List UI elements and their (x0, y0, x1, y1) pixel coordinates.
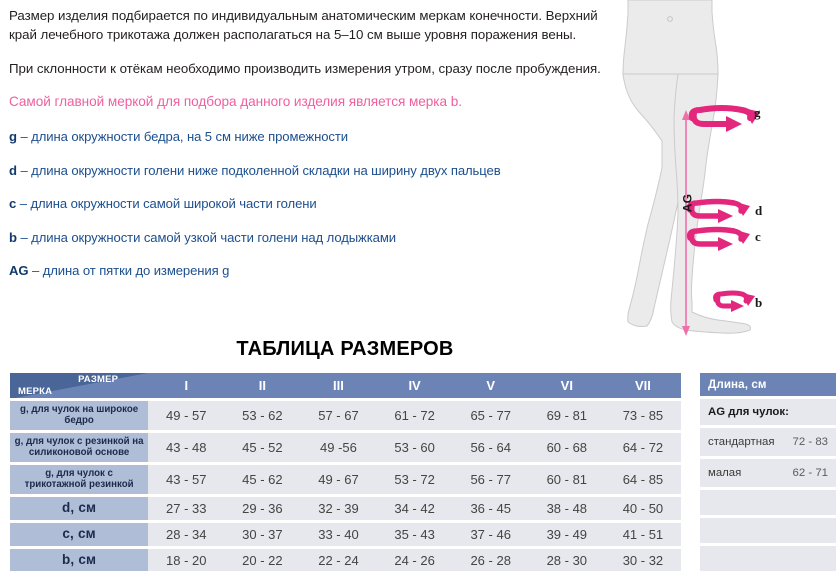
cell-r5-c4: 24 - 26 (377, 547, 453, 571)
definition-item-c: c – длина окружности самой широкой части… (9, 195, 609, 212)
cell-r1-c3: 49 -56 (300, 431, 376, 463)
cell-r0-c6: 69 - 81 (529, 399, 605, 431)
diagram-label-g: g (754, 105, 761, 121)
definition-item-b: b – длина окружности самой узкой части г… (9, 229, 609, 246)
cell-r2-c3: 49 - 67 (300, 463, 376, 495)
definition-item-ag: AG – длина от пятки до измерения g (9, 262, 609, 279)
length-table-spacer-2 (700, 518, 836, 546)
cell-r0-c7: 73 - 85 (605, 399, 681, 431)
torso-shape (623, 0, 718, 74)
column-header-6: VI (529, 373, 605, 399)
definition-text-b: длина окружности самой узкой части голен… (31, 230, 396, 245)
body-illustration-svg (600, 0, 836, 345)
cell-r5-c3: 22 - 24 (300, 547, 376, 571)
column-header-2: II (224, 373, 300, 399)
cell-r2-c5: 56 - 77 (453, 463, 529, 495)
cell-r2-c6: 60 - 81 (529, 463, 605, 495)
column-header-3: III (300, 373, 376, 399)
column-header-1: I (148, 373, 224, 399)
definition-key-d: d (9, 163, 17, 178)
cell-r3-c4: 34 - 42 (377, 495, 453, 521)
table-row: g, для чулок на широкое бедро 49 - 57 53… (10, 399, 681, 431)
row-label-c: c, см (10, 521, 148, 547)
cell-r4-c1: 28 - 34 (148, 521, 224, 547)
column-header-4: IV (377, 373, 453, 399)
cell-r0-c1: 49 - 57 (148, 399, 224, 431)
cell-r5-c1: 18 - 20 (148, 547, 224, 571)
diagram-label-c: c (755, 229, 761, 245)
definition-dash-b: – (17, 230, 31, 245)
cell-r2-c4: 53 - 72 (377, 463, 453, 495)
measurement-arrow-c (690, 230, 750, 252)
cell-r2-c7: 64 - 85 (605, 463, 681, 495)
measurement-definitions-list: g – длина окружности бедра, на 5 см ниже… (9, 128, 609, 279)
corner-header-cell: МЕРКА РАЗМЕР (10, 373, 148, 399)
column-header-5: V (453, 373, 529, 399)
cell-r0-c5: 65 - 77 (453, 399, 529, 431)
measurement-arrow-b (716, 293, 755, 312)
cell-r3-c5: 36 - 45 (453, 495, 529, 521)
length-table-spacer-1 (700, 490, 836, 518)
definition-text-ag: длина от пятки до измерения g (43, 263, 230, 278)
table-row: d, см 27 - 33 29 - 36 32 - 39 34 - 42 36… (10, 495, 681, 521)
tables-wrapper: МЕРКА РАЗМЕР I II III IV V VI VII g, для… (10, 373, 681, 571)
definition-key-g: g (9, 129, 17, 144)
diagram-label-d: d (755, 203, 762, 219)
highlight-note: Самой главной меркой для подбора данного… (9, 92, 609, 111)
cell-r4-c2: 30 - 37 (224, 521, 300, 547)
length-row-small: малая 62 - 71 (700, 459, 836, 490)
cell-r5-c6: 28 - 30 (529, 547, 605, 571)
size-table-header-row: МЕРКА РАЗМЕР I II III IV V VI VII (10, 373, 681, 399)
length-table: Длина, см AG для чулок: стандартная 72 -… (700, 373, 836, 571)
cell-r4-c6: 39 - 49 (529, 521, 605, 547)
definition-key-b: b (9, 230, 17, 245)
length-table-section-title: AG для чулок: (700, 399, 836, 428)
length-row-small-value: 62 - 71 (793, 467, 828, 479)
cell-r5-c7: 30 - 32 (605, 547, 681, 571)
definition-dash-ag: – (28, 263, 42, 278)
column-header-7: VII (605, 373, 681, 399)
table-row: c, см 28 - 34 30 - 37 33 - 40 35 - 43 37… (10, 521, 681, 547)
size-table: МЕРКА РАЗМЕР I II III IV V VI VII g, для… (10, 373, 681, 571)
definition-text-d: длина окружности голени ниже подколенной… (31, 163, 500, 178)
cell-r1-c5: 56 - 64 (453, 431, 529, 463)
cell-r2-c2: 45 - 62 (224, 463, 300, 495)
corner-col-label: РАЗМЕР (78, 374, 118, 385)
leg-measurement-diagram: g d c b AG (600, 0, 836, 345)
cell-r1-c1: 43 - 48 (148, 431, 224, 463)
page-title: ТАБЛИЦА РАЗМЕРОВ (0, 338, 690, 361)
cell-r1-c4: 53 - 60 (377, 431, 453, 463)
cell-r1-c2: 45 - 52 (224, 431, 300, 463)
cell-r4-c3: 33 - 40 (300, 521, 376, 547)
ag-arrow-head-bottom (682, 326, 690, 336)
cell-r4-c5: 37 - 46 (453, 521, 529, 547)
instructions-text-column: Размер изделия подбирается по индивидуал… (9, 6, 609, 279)
cell-r3-c1: 27 - 33 (148, 495, 224, 521)
definition-dash-d: – (17, 163, 31, 178)
corner-row-label: МЕРКА (18, 386, 52, 397)
diagram-label-b: b (755, 295, 762, 311)
cell-r1-c7: 64 - 72 (605, 431, 681, 463)
size-chart-page: Размер изделия подбирается по индивидуал… (0, 0, 836, 571)
length-section-title-text: AG для чулок: (708, 406, 828, 418)
length-row-small-name: малая (708, 467, 793, 479)
cell-r3-c2: 29 - 36 (224, 495, 300, 521)
cell-r1-c6: 60 - 68 (529, 431, 605, 463)
row-label-b: b, см (10, 547, 148, 571)
cell-r4-c4: 35 - 43 (377, 521, 453, 547)
cell-r0-c4: 61 - 72 (377, 399, 453, 431)
row-label-g-wide-thigh: g, для чулок на широкое бедро (10, 399, 148, 431)
definition-key-ag: AG (9, 263, 28, 278)
length-row-standard: стандартная 72 - 83 (700, 428, 836, 459)
length-table-spacer-3 (700, 546, 836, 571)
definition-text-c: длина окружности самой широкой части гол… (30, 196, 316, 211)
definition-item-d: d – длина окружности голени ниже подколе… (9, 162, 609, 179)
cell-r3-c7: 40 - 50 (605, 495, 681, 521)
cell-r5-c5: 26 - 28 (453, 547, 529, 571)
cell-r3-c3: 32 - 39 (300, 495, 376, 521)
intro-paragraph-1: Размер изделия подбирается по индивидуал… (9, 6, 609, 45)
diagram-label-ag: AG (680, 194, 694, 213)
length-row-standard-value: 72 - 83 (793, 436, 828, 448)
row-label-d: d, см (10, 495, 148, 521)
table-row: b, см 18 - 20 20 - 22 22 - 24 24 - 26 26… (10, 547, 681, 571)
definition-dash-g: – (17, 129, 31, 144)
definition-dash-c: – (16, 196, 30, 211)
size-table-head: МЕРКА РАЗМЕР I II III IV V VI VII (10, 373, 681, 399)
cell-r4-c7: 41 - 51 (605, 521, 681, 547)
intro-paragraph-2: При склонности к отёкам необходимо произ… (9, 59, 609, 78)
length-table-header: Длина, см (700, 373, 836, 399)
definition-item-g: g – длина окружности бедра, на 5 см ниже… (9, 128, 609, 145)
length-row-standard-name: стандартная (708, 436, 793, 448)
row-label-g-knit-band: g, для чулок с трикотажной резинкой (10, 463, 148, 495)
cell-r3-c6: 38 - 48 (529, 495, 605, 521)
cell-r2-c1: 43 - 57 (148, 463, 224, 495)
cell-r5-c2: 20 - 22 (224, 547, 300, 571)
table-row: g, для чулок с резинкой на силиконовой о… (10, 431, 681, 463)
cell-r0-c3: 57 - 67 (300, 399, 376, 431)
row-label-g-silicone-band: g, для чулок с резинкой на силиконовой о… (10, 431, 148, 463)
definition-text-g: длина окружности бедра, на 5 см ниже про… (31, 129, 348, 144)
table-row: g, для чулок с трикотажной резинкой 43 -… (10, 463, 681, 495)
size-table-body: g, для чулок на широкое бедро 49 - 57 53… (10, 399, 681, 571)
cell-r0-c2: 53 - 62 (224, 399, 300, 431)
